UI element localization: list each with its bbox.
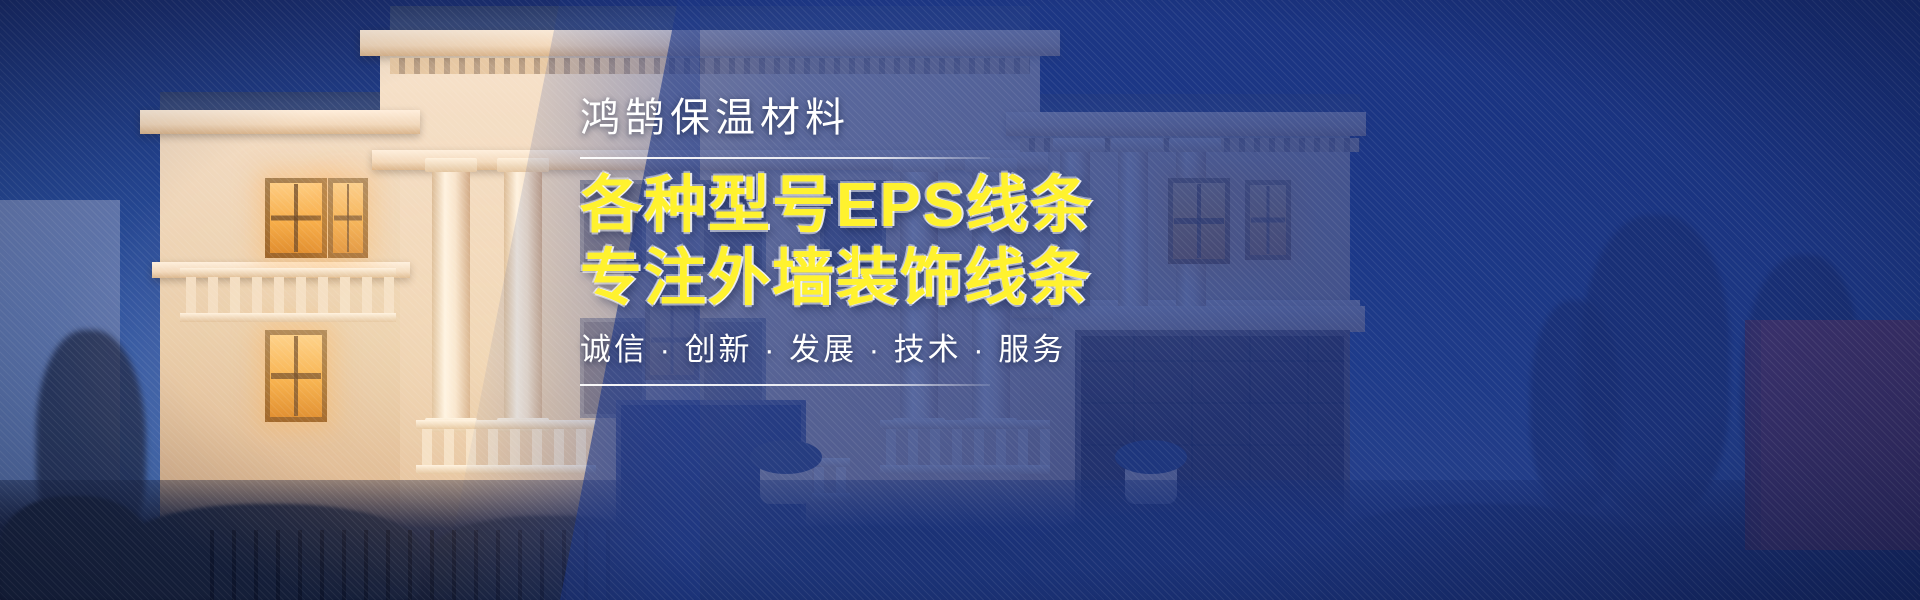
column [504, 170, 542, 420]
hedge [1030, 512, 1320, 600]
headline-line-1: 各种型号EPS线条 [580, 169, 1340, 242]
roof-cap [160, 92, 410, 112]
cornice [360, 30, 1060, 56]
balustrade [180, 268, 396, 322]
divider-top [580, 157, 990, 159]
balustrade [880, 420, 1050, 474]
window-lit [265, 178, 327, 258]
window-lit [328, 178, 368, 258]
dentil-moulding [390, 58, 1030, 74]
cornice [140, 110, 420, 134]
fence [210, 530, 610, 600]
banner-copy: 鸿鹄保温材料 各种型号EPS线条 专注外墙装饰线条 诚信 · 创新 · 发展 ·… [580, 96, 1340, 386]
hedge [690, 526, 1020, 600]
red-container [1745, 320, 1920, 550]
hedge [1330, 504, 1630, 600]
promo-banner: 鸿鹄保温材料 各种型号EPS线条 专注外墙装饰线条 诚信 · 创新 · 发展 ·… [0, 0, 1920, 600]
column [432, 170, 470, 420]
balustrade [416, 420, 596, 474]
headline-line-2: 专注外墙装饰线条 [580, 242, 1340, 315]
window-lit [265, 330, 327, 422]
tree-silhouette [1530, 300, 1620, 510]
divider-bottom [580, 384, 990, 386]
tagline: 诚信 · 创新 · 发展 · 技术 · 服务 [580, 331, 1340, 368]
brand-name: 鸿鹄保温材料 [580, 96, 1340, 141]
